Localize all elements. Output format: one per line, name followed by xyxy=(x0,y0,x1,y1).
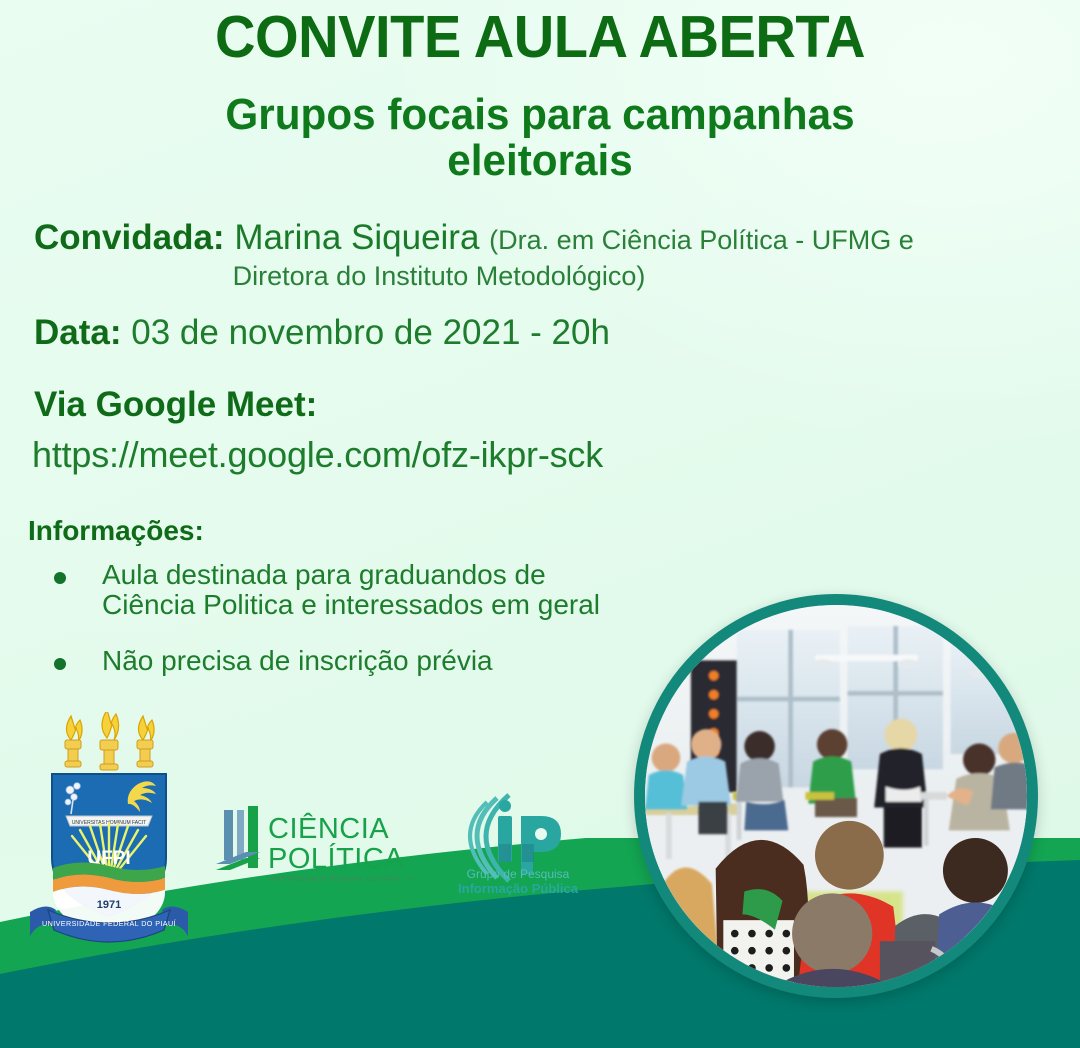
ip-line-1: Grupo de Pesquisa xyxy=(467,867,570,881)
info-label: Informações: xyxy=(28,515,204,547)
guest-row: Convidada: Marina Siqueira (Dra. em Ciên… xyxy=(34,218,1034,259)
guest-label: Convidada: xyxy=(34,218,225,257)
info-list: Aula destinada para graduandos de Ciênci… xyxy=(46,560,666,703)
ip-monogram xyxy=(498,800,561,874)
list-item-text: Não precisa de inscrição prévia xyxy=(102,645,493,676)
cp-line-1: CIÊNCIA xyxy=(268,812,389,845)
page-title: CONVITE AULA ABERTA xyxy=(27,6,1053,70)
list-item-text: Aula destinada para graduandos de Ciênci… xyxy=(102,559,600,620)
ciencia-politica-logo: CIÊNCIA POLÍTICA UNIVERSIDADE FEDERAL DO… xyxy=(214,802,414,896)
title-block: CONVITE AULA ABERTA Grupos focais para c… xyxy=(0,0,1080,184)
page-subtitle: Grupos focais para campanhas eleitorais xyxy=(156,92,924,184)
date-label: Data: xyxy=(34,313,122,352)
bullet-icon xyxy=(54,658,66,670)
torch-icon xyxy=(65,712,154,770)
date-row: Data: 03 de novembro de 2021 - 20h xyxy=(34,312,1034,354)
shield-icon: UNIVERSITAS HOMINUM FACIT UFPI 1971 xyxy=(52,774,166,938)
book-icon xyxy=(216,806,260,870)
poster-canvas: CONVITE AULA ABERTA Grupos focais para c… xyxy=(0,0,1080,1048)
event-details: Convidada: Marina Siqueira (Dra. em Ciên… xyxy=(34,218,1034,354)
guest-name: Marina Siqueira xyxy=(234,218,479,257)
bullet-icon xyxy=(54,572,66,584)
list-item: Não precisa de inscrição prévia xyxy=(46,646,666,676)
focus-group-photo xyxy=(634,594,1038,998)
ribbon-text: UNIVERSIDADE FEDERAL DO PIAUÍ xyxy=(42,919,176,928)
ip-line-2: Informação Pública xyxy=(458,881,579,896)
ip-logo: Grupo de Pesquisa Informação Pública xyxy=(443,788,593,898)
cp-tagline: UNIVERSIDADE FEDERAL DO PIAUÍ - UFPI xyxy=(269,874,414,883)
shield-year: 1971 xyxy=(97,899,121,911)
ufpi-logo: UNIVERSITAS HOMINUM FACIT UFPI 1971 xyxy=(26,712,192,947)
meet-link[interactable]: https://meet.google.com/ofz-ikpr-sck xyxy=(32,434,603,476)
list-item: Aula destinada para graduandos de Ciênci… xyxy=(46,560,666,620)
cp-line-2: POLÍTICA xyxy=(268,842,404,875)
date-value: 03 de novembro de 2021 - 20h xyxy=(131,313,610,352)
guest-credential-line-1: (Dra. em Ciência Política - UFMG e xyxy=(489,225,914,255)
guest-credential-line-2: Diretora do Instituto Metodológico) xyxy=(34,261,1034,292)
meet-label: Via Google Meet: xyxy=(34,385,317,425)
